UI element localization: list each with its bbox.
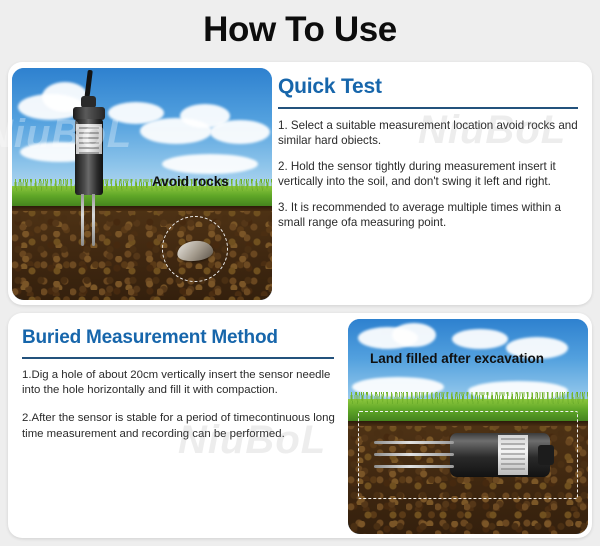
cloud-icon: [162, 154, 258, 174]
sensor-label: [498, 435, 528, 475]
grass-layer: [12, 186, 272, 208]
page-title: How To Use: [0, 6, 600, 54]
buried-method-photo: Land filled after excavation: [348, 319, 588, 534]
quick-test-step-2: 2. Hold the sensor tightly during measur…: [278, 159, 582, 190]
quick-test-step-3: 3. It is recommended to average multiple…: [278, 200, 582, 231]
buried-method-heading: Buried Measurement Method: [22, 326, 338, 350]
avoid-rocks-caption: Avoid rocks: [152, 174, 229, 189]
buried-method-text-panel: Buried Measurement Method 1.Dig a hole o…: [22, 326, 338, 455]
sensor-probe-needle: [374, 441, 454, 444]
sensor-probe-needle: [374, 453, 454, 456]
buried-method-step-1: 1.Dig a hole of about 20cm vertically in…: [22, 368, 338, 398]
sensor-probe-needle: [92, 194, 95, 246]
quick-test-heading: Quick Test: [278, 74, 582, 100]
cloud-icon: [392, 323, 436, 347]
heading-divider: [278, 107, 578, 109]
sensor-connector: [538, 445, 554, 465]
quick-test-photo: Avoid rocks: [12, 68, 272, 300]
sensor-label: [76, 124, 102, 154]
rock-shape: [176, 238, 215, 263]
quick-test-step-1: 1. Select a suitable measurement locatio…: [278, 118, 582, 149]
sensor-probe-needle: [81, 194, 84, 246]
buried-method-step-2: 2.After the sensor is stable for a perio…: [22, 411, 338, 441]
quick-test-text-panel: Quick Test 1. Select a suitable measurem…: [278, 74, 582, 240]
soil-surface: [12, 206, 272, 211]
soil-sensor-horizontal: [426, 429, 556, 481]
cloud-icon: [452, 329, 508, 349]
cloud-icon: [210, 120, 270, 144]
soil-sensor-vertical: [72, 96, 106, 246]
heading-divider: [22, 357, 334, 359]
soil-layer: [12, 206, 272, 300]
how-to-use-page: How To Use Avoid rocks: [0, 0, 600, 546]
rock-highlight-circle: [162, 216, 228, 282]
sensor-probe-needle: [374, 465, 454, 468]
land-filled-caption: Land filled after excavation: [370, 351, 544, 366]
